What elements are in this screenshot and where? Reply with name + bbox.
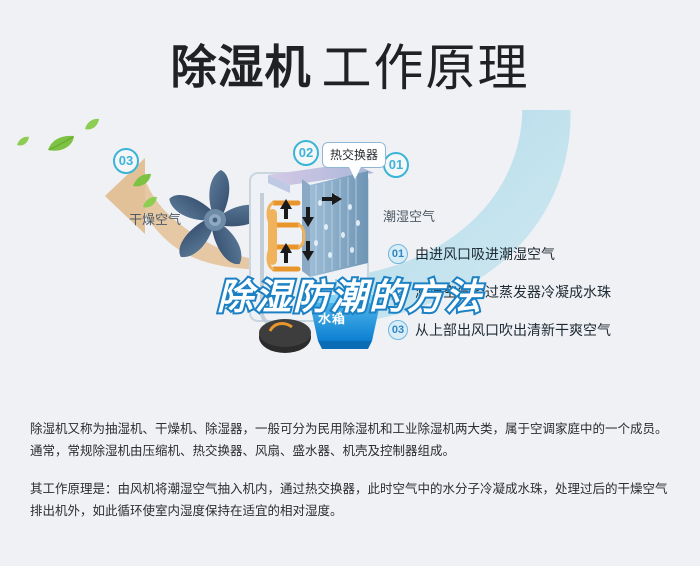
paragraph-2: 其工作原理是：由风机将潮湿空气抽入机内，通过热交换器，此时空气中的水分子冷凝成水… xyxy=(30,478,675,522)
leaf-icon xyxy=(84,118,100,132)
article-body: 除湿机又称为抽湿机、干燥机、除湿器，一般可分为民用除湿机和工业除湿机两大类，属于… xyxy=(30,418,675,538)
leaf-icon xyxy=(46,134,76,154)
page-title-bold: 除湿机 xyxy=(171,41,312,93)
badge-01: 01 xyxy=(383,152,409,178)
leaf-icon xyxy=(16,136,30,148)
step-text: 从上部出风口吹出清新干爽空气 xyxy=(415,320,611,340)
badge-03: 03 xyxy=(113,148,139,174)
watermark-overlay-text: 除湿防潮的方法 xyxy=(0,268,700,320)
badge-02: 02 xyxy=(293,140,319,166)
page-title: 除湿机工作原理 xyxy=(0,28,700,100)
heat-exchanger-callout: 热交换器 xyxy=(322,142,386,168)
page-title-light: 工作原理 xyxy=(322,40,530,96)
list-item: 03 从上部出风口吹出清新干爽空气 xyxy=(388,319,688,341)
leaf-icon xyxy=(132,173,152,189)
step-number: 03 xyxy=(388,320,408,340)
dry-air-label: 干燥空气 xyxy=(129,209,181,228)
dehumidifier-unit xyxy=(240,145,390,375)
list-item: 01 由进风口吸进潮湿空气 xyxy=(388,243,688,265)
step-number: 01 xyxy=(388,244,408,264)
step-text: 由进风口吸进潮湿空气 xyxy=(415,244,555,264)
paragraph-1: 除湿机又称为抽湿机、干燥机、除湿器，一般可分为民用除湿机和工业除湿机两大类，属于… xyxy=(30,418,675,462)
humid-air-label: 潮湿空气 xyxy=(383,206,435,225)
